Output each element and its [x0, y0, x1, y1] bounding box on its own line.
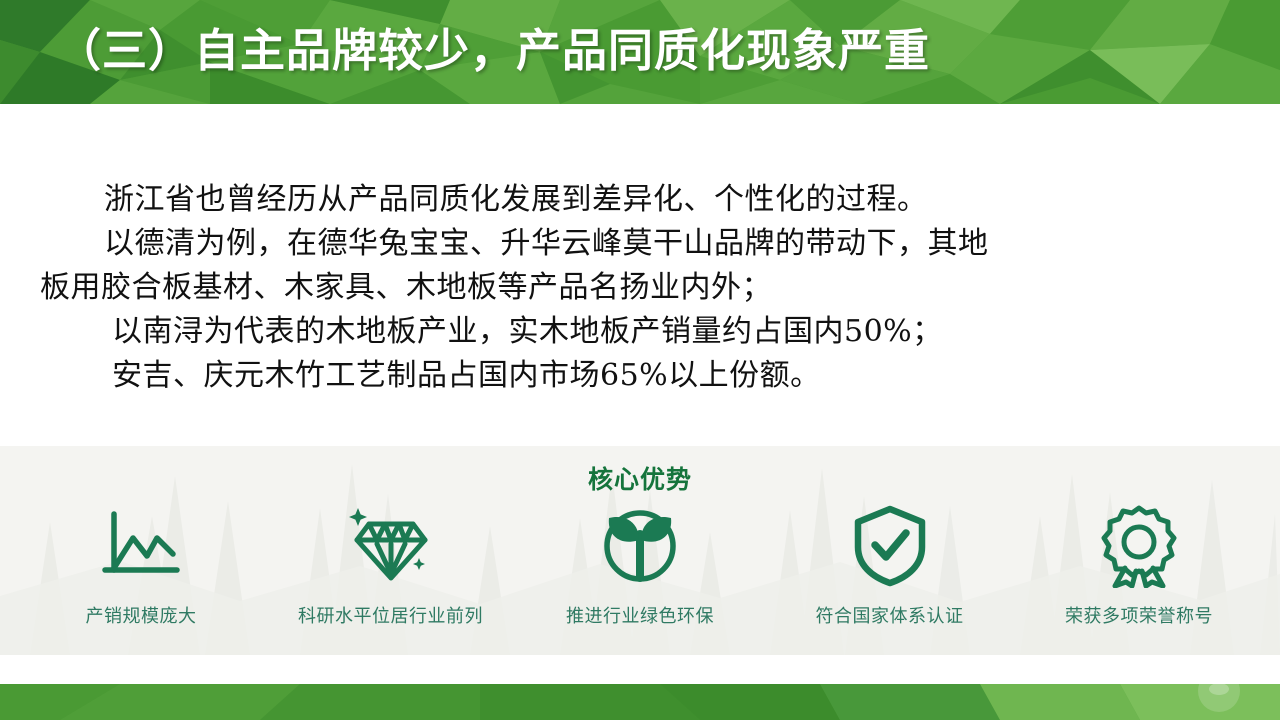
feature-item-5[interactable]: 荣获多项荣誉称号 — [1016, 504, 1262, 628]
feature-item-2[interactable]: 科研水平位居行业前列 — [268, 504, 514, 628]
award-rosette-icon — [1093, 504, 1185, 588]
feature-caption-1: 产销规模庞大 — [86, 602, 197, 628]
body-line-2: 以德清为例，在德华兔宝宝、升华云峰莫干山品牌的带动下，其地 — [0, 222, 1280, 266]
feature-item-1[interactable]: 产销规模庞大 — [18, 504, 264, 628]
feature-item-3[interactable]: 推进行业绿色环保 — [517, 504, 763, 628]
body-line-1: 浙江省也曾经历从产品同质化发展到差异化、个性化的过程。 — [0, 178, 1280, 222]
page-title: （三）自主品牌较少，产品同质化现象严重 — [56, 16, 930, 86]
footer-lowpoly-background — [0, 684, 1280, 720]
body-line-3: 板用胶合板基材、木家具、木地板等产品名扬业内外； — [0, 266, 1280, 310]
feature-caption-2: 科研水平位居行业前列 — [298, 602, 483, 628]
shield-check-icon — [844, 504, 936, 588]
diamond-icon — [345, 504, 437, 588]
logo-watermark-inner — [1209, 684, 1229, 695]
slide-header-banner: （三）自主品牌较少，产品同质化现象严重 — [0, 0, 1280, 104]
body-paragraph: 浙江省也曾经历从产品同质化发展到差异化、个性化的过程。 以德清为例，在德华兔宝宝… — [0, 178, 1280, 398]
feature-item-4[interactable]: 符合国家体系认证 — [767, 504, 1013, 628]
slide-footer-bar — [0, 684, 1280, 720]
feature-caption-4: 符合国家体系认证 — [816, 602, 964, 628]
sprout-icon — [594, 504, 686, 588]
feature-caption-3: 推进行业绿色环保 — [566, 602, 714, 628]
body-line-4: 以南浔为代表的木地板产业，实木地板产销量约占国内50%； — [0, 310, 1280, 354]
panel-heading: 核心优势 — [0, 460, 1280, 496]
core-advantages-panel: 核心优势 产销规模庞大 — [0, 446, 1280, 655]
line-chart-icon — [95, 504, 187, 588]
feature-caption-5: 荣获多项荣誉称号 — [1065, 602, 1213, 628]
body-line-5: 安吉、庆元木竹工艺制品占国内市场65%以上份额。 — [0, 354, 1280, 398]
features-row: 产销规模庞大 — [0, 504, 1280, 644]
